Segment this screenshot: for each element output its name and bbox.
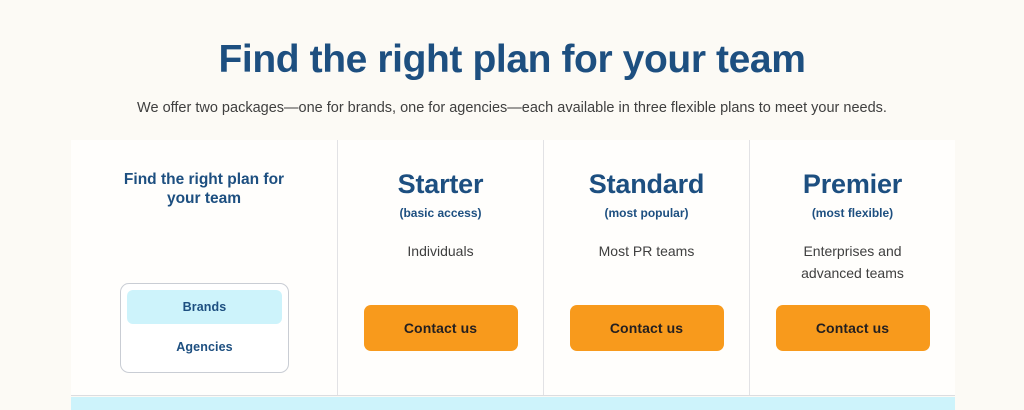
hero-section: Find the right plan for your team We off… [0,0,1024,118]
audience-toggle-group[interactable]: Brands Agencies [120,283,289,373]
plans-comparison-card: Find the right plan for your team Brands… [71,140,955,396]
audience-toggle-heading: Find the right plan for your team [71,140,337,208]
plan-tag: (most flexible) [750,206,955,221]
plan-tag: (most popular) [544,206,749,221]
plan-name: Starter [338,168,543,200]
plan-description: Enterprises and advanced teams [787,240,919,284]
plan-description: Most PR teams [581,240,713,262]
plan-column-premier: Premier (most flexible) Enterprises and … [749,140,955,395]
pricing-page: Find the right plan for your team We off… [0,0,1024,410]
plan-name: Premier [750,168,955,200]
plan-name: Standard [544,168,749,200]
audience-toggle-option-brands[interactable]: Brands [127,290,282,324]
contact-us-button-standard[interactable]: Contact us [570,305,724,351]
audience-toggle-column: Find the right plan for your team Brands… [71,140,337,395]
plan-description: Individuals [375,240,507,262]
section-accent-band [71,397,955,410]
audience-toggle-option-agencies[interactable]: Agencies [127,330,282,364]
plan-column-starter: Starter (basic access) Individuals Conta… [337,140,543,395]
plan-header-premier: Premier (most flexible) Enterprises and … [750,140,955,284]
plan-header-starter: Starter (basic access) Individuals [338,140,543,262]
plan-tag: (basic access) [338,206,543,221]
page-title: Find the right plan for your team [0,38,1024,82]
contact-us-button-starter[interactable]: Contact us [364,305,518,351]
plan-column-standard: Standard (most popular) Most PR teams Co… [543,140,749,395]
page-subtitle: We offer two packages—one for brands, on… [0,98,1024,118]
plan-header-standard: Standard (most popular) Most PR teams [544,140,749,262]
contact-us-button-premier[interactable]: Contact us [776,305,930,351]
